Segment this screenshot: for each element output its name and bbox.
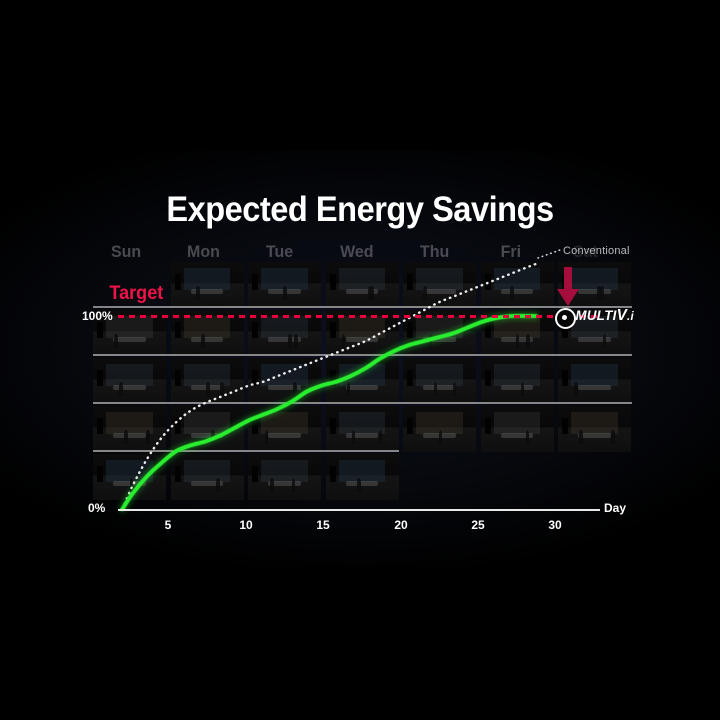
day-header-sun: Sun — [111, 242, 141, 262]
grid-row-separator — [93, 450, 399, 452]
x-tick-30: 30 — [548, 518, 561, 532]
room-thumbnail — [403, 406, 476, 452]
room-thumbnail — [481, 406, 554, 452]
day-header-wed: Wed — [340, 242, 373, 262]
target-threshold-line — [118, 315, 600, 318]
logo-v: V — [617, 307, 627, 324]
room-thumbnail — [171, 262, 244, 308]
x-tick-15: 15 — [316, 518, 329, 532]
room-thumbnail — [93, 406, 166, 452]
room-thumbnail — [248, 358, 321, 404]
day-header-fri: Fri — [501, 242, 521, 262]
x-axis-line — [118, 509, 600, 511]
x-tick-10: 10 — [239, 518, 252, 532]
grid-row-separator — [93, 306, 632, 308]
room-thumbnail — [171, 406, 244, 452]
multiv-product-logo: MULTIV.i — [576, 307, 634, 325]
room-thumbnail — [481, 358, 554, 404]
y-axis-target-label: 100% — [82, 309, 113, 323]
room-thumbnail — [93, 358, 166, 404]
room-thumbnail — [171, 358, 244, 404]
room-thumbnail — [403, 262, 476, 308]
down-arrow-icon — [556, 267, 580, 307]
conventional-label: Conventional — [563, 245, 630, 257]
room-thumbnail — [558, 406, 631, 452]
grid-row-separator — [93, 402, 632, 404]
room-thumbnail — [326, 454, 399, 500]
x-tick-5: 5 — [165, 518, 172, 532]
room-thumbnail — [171, 454, 244, 500]
x-tick-20: 20 — [394, 518, 407, 532]
room-thumbnail — [93, 454, 166, 500]
room-thumbnail — [403, 358, 476, 404]
day-header-tue: Tue — [266, 242, 293, 262]
room-thumbnail — [248, 262, 321, 308]
thumbnail-grid — [93, 262, 633, 502]
room-thumbnail — [558, 358, 631, 404]
room-thumbnail — [326, 262, 399, 308]
room-thumbnail — [248, 454, 321, 500]
multiv-endpoint-marker — [555, 308, 576, 329]
grid-row-separator — [93, 354, 632, 356]
room-thumbnail — [248, 406, 321, 452]
logo-prefix: MULTI — [576, 307, 617, 323]
day-header-mon: Mon — [187, 242, 220, 262]
room-thumbnail — [326, 358, 399, 404]
y-axis-zero-label: 0% — [88, 501, 105, 515]
slide-canvas: Expected Energy Savings SunMonTueWedThuF… — [0, 0, 720, 720]
x-axis-label: Day — [604, 501, 626, 515]
page-title: Expected Energy Savings — [25, 190, 695, 230]
day-header-thu: Thu — [420, 242, 449, 262]
target-label: Target — [109, 283, 163, 305]
x-tick-25: 25 — [471, 518, 484, 532]
room-thumbnail — [326, 406, 399, 452]
room-thumbnail — [481, 262, 554, 308]
logo-i: i — [631, 309, 634, 323]
